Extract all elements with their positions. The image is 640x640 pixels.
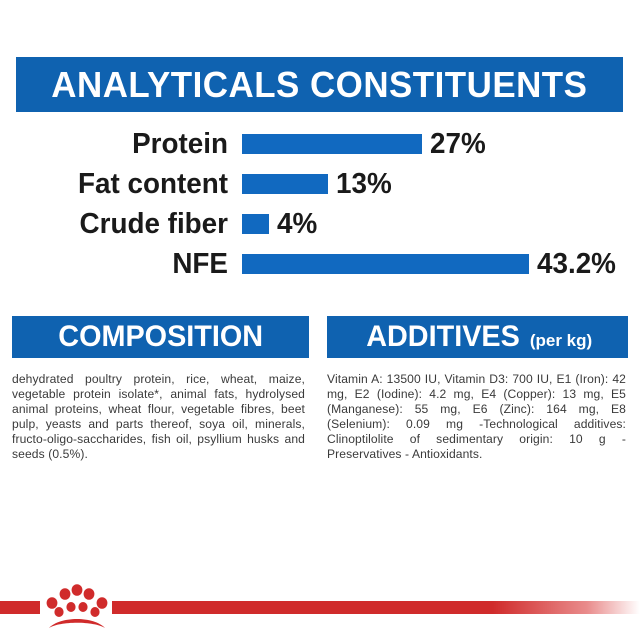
composition-panel: COMPOSITION dehydrated poultry protein, … — [12, 316, 309, 462]
chart-bar — [242, 254, 529, 274]
chart-bar — [242, 214, 269, 234]
additives-header: ADDITIVES (per kg) — [327, 316, 628, 358]
composition-body-text: dehydrated poultry protein, rice, wheat,… — [12, 358, 309, 462]
additives-subtitle: (per kg) — [530, 332, 592, 349]
chart-bar — [242, 174, 328, 194]
chart-value-label: 13% — [336, 170, 392, 199]
chart-bar-wrapper: 27% — [242, 130, 640, 159]
analytics-constituents-title: ANALYTICALS CONSTITUENTS — [51, 67, 587, 103]
chart-category-label: Protein — [9, 130, 228, 159]
chart-value-label: 4% — [277, 210, 317, 239]
chart-value-label: 43.2% — [537, 250, 616, 279]
additives-body-text: Vitamin A: 13500 IU, Vitamin D3: 700 IU,… — [327, 358, 628, 462]
chart-row: Crude fiber4% — [0, 204, 640, 244]
chart-row: Protein27% — [0, 124, 640, 164]
chart-bar-wrapper: 4% — [242, 210, 640, 239]
divider-right-segment — [112, 601, 640, 614]
additives-title: ADDITIVES — [366, 322, 520, 352]
chart-value-label: 27% — [430, 130, 486, 159]
analytical-constituents-chart: Protein27%Fat content13%Crude fiber4%NFE… — [0, 124, 640, 294]
chart-bar — [242, 134, 422, 154]
chart-row: Fat content13% — [0, 164, 640, 204]
additives-panel: ADDITIVES (per kg) Vitamin A: 13500 IU, … — [327, 316, 628, 462]
composition-header: COMPOSITION — [12, 316, 309, 358]
chart-category-label: Crude fiber — [9, 210, 228, 239]
chart-category-label: Fat content — [9, 170, 228, 199]
royal-canin-crown-icon — [44, 578, 110, 630]
divider-left-segment — [0, 601, 40, 614]
chart-row: NFE43.2% — [0, 244, 640, 284]
composition-title: COMPOSITION — [58, 322, 263, 352]
analytics-constituents-header: ANALYTICALS CONSTITUENTS — [16, 57, 623, 112]
chart-bar-wrapper: 43.2% — [242, 250, 640, 279]
chart-category-label: NFE — [9, 250, 228, 279]
chart-bar-wrapper: 13% — [242, 170, 640, 199]
